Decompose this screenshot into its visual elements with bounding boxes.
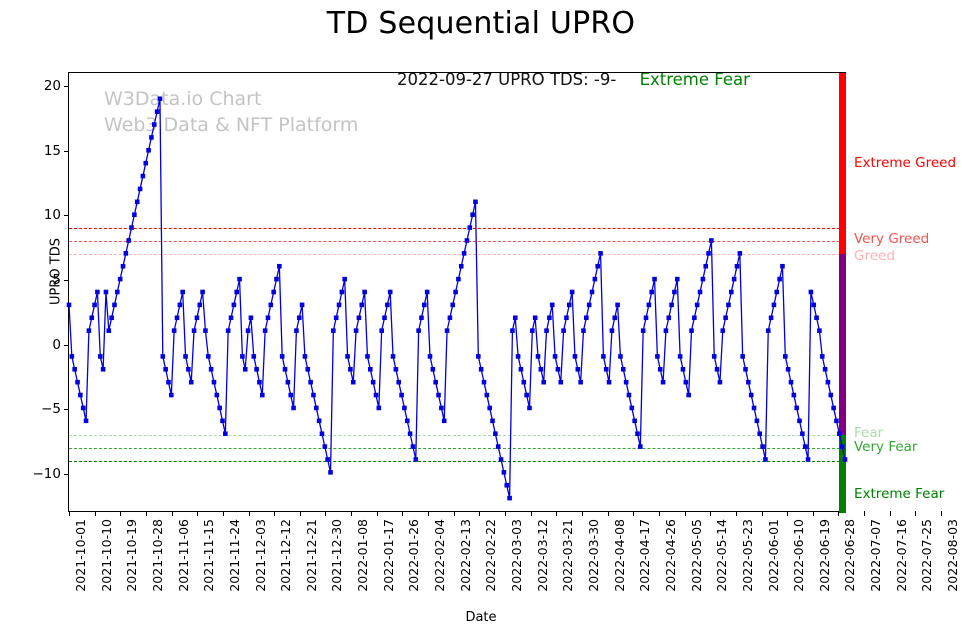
series-marker (388, 290, 393, 295)
series-marker (470, 212, 475, 217)
series-marker (496, 444, 501, 449)
x-tick-mark (582, 511, 583, 516)
series-marker (359, 303, 364, 308)
x-tick-label: 2021-12-12 (278, 519, 293, 592)
series-marker (831, 406, 836, 411)
series-marker (584, 315, 589, 320)
series-marker (601, 354, 606, 359)
x-tick-mark (249, 511, 250, 516)
series-marker (467, 225, 472, 230)
series-marker (107, 328, 112, 333)
x-tick-label: 2021-12-30 (329, 519, 344, 592)
series-marker (368, 367, 373, 372)
series-marker (777, 277, 782, 282)
series-marker (666, 315, 671, 320)
x-tick-label: 2022-06-28 (842, 519, 857, 592)
series-marker (419, 315, 424, 320)
x-tick-mark (197, 511, 198, 516)
series-marker (607, 380, 612, 385)
series-marker (573, 354, 578, 359)
series-marker (314, 406, 319, 411)
series-marker (362, 290, 367, 295)
series-marker (689, 328, 694, 333)
x-tick-mark (505, 511, 506, 516)
x-tick-label: 2021-10-10 (99, 519, 114, 592)
series-marker (104, 290, 109, 295)
x-tick-label: 2022-04-08 (612, 519, 627, 592)
series-marker (595, 264, 600, 269)
series-marker (311, 393, 316, 398)
x-tick-label: 2022-02-13 (458, 519, 473, 592)
series-marker (533, 315, 538, 320)
series-marker (516, 354, 521, 359)
series-marker (590, 290, 595, 295)
series-marker (206, 354, 211, 359)
series-marker (783, 354, 788, 359)
series-marker (541, 380, 546, 385)
series-marker (658, 367, 663, 372)
series-marker (377, 406, 382, 411)
series-marker (797, 419, 802, 424)
series-marker (786, 367, 791, 372)
series-marker (149, 135, 154, 140)
series-marker (135, 200, 140, 205)
series-marker (334, 315, 339, 320)
x-tick-label: 2021-11-15 (201, 519, 216, 592)
series-marker (141, 174, 146, 179)
series-marker (564, 315, 569, 320)
series-marker (752, 406, 757, 411)
series-marker (396, 380, 401, 385)
series-marker (487, 406, 492, 411)
series-marker (325, 457, 330, 462)
series-marker (618, 354, 623, 359)
series-marker (624, 380, 629, 385)
series-marker (374, 393, 379, 398)
series-marker (308, 380, 313, 385)
series-marker (823, 367, 828, 372)
series-marker (183, 354, 188, 359)
x-tick-mark (95, 511, 96, 516)
series-marker (746, 380, 751, 385)
series-marker (200, 290, 205, 295)
series-marker (792, 393, 797, 398)
series-marker (234, 290, 239, 295)
series-marker (621, 367, 626, 372)
series-marker (811, 303, 816, 308)
series-marker (723, 315, 728, 320)
series-marker (92, 303, 97, 308)
x-tick-label: 2022-01-08 (355, 519, 370, 592)
series-marker (158, 96, 163, 101)
y-tick-label: 10 (44, 207, 61, 223)
series-marker (246, 328, 251, 333)
x-tick-label: 2022-06-10 (791, 519, 806, 592)
series-marker (678, 354, 683, 359)
x-tick-label: 2022-05-23 (740, 519, 755, 592)
series-marker (578, 380, 583, 385)
series-marker (371, 380, 376, 385)
series-marker (169, 393, 174, 398)
x-tick-mark (402, 511, 403, 516)
plot-area: 20151050−5−10 (68, 72, 846, 512)
series-marker (379, 328, 384, 333)
series-marker (249, 315, 254, 320)
x-tick-label: 2022-06-19 (817, 519, 832, 592)
series-marker (81, 406, 86, 411)
series-marker (780, 264, 785, 269)
series-marker (209, 367, 214, 372)
series-marker (226, 328, 231, 333)
series-marker (800, 431, 805, 436)
series-line (69, 99, 845, 498)
series-marker (647, 303, 652, 308)
y-tick-label: 0 (52, 337, 61, 353)
series-marker (462, 251, 467, 256)
series-marker (536, 354, 541, 359)
series-marker (570, 290, 575, 295)
x-tick-label: 2021-12-03 (253, 519, 268, 592)
x-tick-mark (890, 511, 891, 516)
series-marker (331, 328, 336, 333)
series-marker (715, 367, 720, 372)
series-marker (217, 406, 222, 411)
series-marker (669, 303, 674, 308)
series-marker (547, 315, 552, 320)
series-marker (803, 444, 808, 449)
series-marker (718, 380, 723, 385)
series-marker (698, 290, 703, 295)
series-marker (712, 354, 717, 359)
x-tick-label: 2022-03-30 (586, 519, 601, 592)
series-marker (539, 367, 544, 372)
series-marker (817, 328, 822, 333)
x-tick-mark (223, 511, 224, 516)
series-marker (769, 315, 774, 320)
series-marker (303, 354, 308, 359)
x-tick-mark (300, 511, 301, 516)
series-marker (612, 315, 617, 320)
series-marker (843, 457, 848, 462)
series-marker (448, 315, 453, 320)
series-marker (340, 290, 345, 295)
series-marker (465, 238, 470, 243)
series-marker (294, 328, 299, 333)
series-marker (433, 380, 438, 385)
series-marker (189, 380, 194, 385)
x-tick-mark (710, 511, 711, 516)
x-tick-mark (428, 511, 429, 516)
series-marker (274, 277, 279, 282)
x-tick-label: 2022-04-17 (637, 519, 652, 592)
x-tick-mark (736, 511, 737, 516)
series-marker (220, 419, 225, 424)
series-marker (95, 290, 100, 295)
series-marker (115, 290, 120, 295)
series-marker (146, 148, 151, 153)
series-marker (556, 367, 561, 372)
series-marker (820, 354, 825, 359)
series-marker (254, 367, 259, 372)
series-marker (840, 444, 845, 449)
x-tick-mark (762, 511, 763, 516)
series-marker (70, 354, 75, 359)
series-marker (522, 380, 527, 385)
series-marker (610, 328, 615, 333)
series-marker (172, 328, 177, 333)
x-tick-label: 2021-12-21 (304, 519, 319, 592)
series-marker (757, 431, 762, 436)
tds-series (69, 73, 845, 511)
x-tick-mark (915, 511, 916, 516)
series-marker (587, 303, 592, 308)
series-marker (703, 264, 708, 269)
x-tick-label: 2022-05-05 (689, 519, 704, 592)
series-marker (354, 328, 359, 333)
series-marker (479, 367, 484, 372)
series-marker (243, 367, 248, 372)
series-marker (271, 290, 276, 295)
series-marker (67, 303, 72, 308)
y-tick-label: 20 (44, 78, 61, 94)
x-tick-mark (479, 511, 480, 516)
x-tick-label: 2022-02-04 (432, 519, 447, 592)
x-tick-label: 2021-10-01 (73, 519, 88, 592)
series-marker (504, 483, 509, 488)
series-marker (328, 470, 333, 475)
series-marker (283, 367, 288, 372)
series-marker (269, 303, 274, 308)
x-tick-label: 2022-03-21 (560, 519, 575, 592)
series-marker (72, 367, 77, 372)
series-marker (544, 328, 549, 333)
series-marker (681, 367, 686, 372)
series-marker (826, 380, 831, 385)
series-marker (124, 251, 129, 256)
series-marker (604, 367, 609, 372)
series-marker (794, 406, 799, 411)
x-tick-label: 2022-03-03 (509, 519, 524, 592)
series-marker (502, 470, 507, 475)
series-marker (411, 444, 416, 449)
series-marker (649, 290, 654, 295)
series-marker (661, 380, 666, 385)
x-tick-label: 2022-08-03 (945, 519, 960, 592)
series-marker (453, 290, 458, 295)
series-marker (493, 431, 498, 436)
series-marker (121, 264, 126, 269)
series-marker (175, 315, 180, 320)
x-tick-mark (120, 511, 121, 516)
series-marker (178, 303, 183, 308)
threshold-label-very-fear: Very Fear (854, 439, 917, 455)
series-marker (260, 393, 265, 398)
series-marker (385, 303, 390, 308)
series-marker (277, 264, 282, 269)
series-marker (337, 303, 342, 308)
series-marker (749, 393, 754, 398)
series-marker (138, 187, 143, 192)
x-tick-mark (941, 511, 942, 516)
series-marker (524, 393, 529, 398)
series-marker (163, 367, 168, 372)
x-tick-mark (685, 511, 686, 516)
series-marker (186, 367, 191, 372)
series-marker (615, 303, 620, 308)
series-marker (692, 315, 697, 320)
series-marker (735, 264, 740, 269)
series-marker (266, 315, 271, 320)
series-marker (476, 354, 481, 359)
series-marker (399, 393, 404, 398)
x-tick-mark (377, 511, 378, 516)
series-marker (436, 393, 441, 398)
series-marker (75, 380, 80, 385)
series-marker (519, 367, 524, 372)
series-marker (109, 315, 114, 320)
x-tick-label: 2022-02-22 (483, 519, 498, 592)
series-marker (561, 328, 566, 333)
series-marker (499, 457, 504, 462)
series-marker (553, 354, 558, 359)
series-marker (635, 431, 640, 436)
series-marker (323, 444, 328, 449)
x-tick-mark (864, 511, 865, 516)
series-marker (87, 328, 92, 333)
series-marker (763, 457, 768, 462)
series-marker (513, 315, 518, 320)
x-tick-label: 2022-07-07 (868, 519, 883, 592)
x-tick-label: 2022-05-14 (714, 519, 729, 592)
series-marker (391, 354, 396, 359)
series-marker (405, 419, 410, 424)
series-marker (394, 367, 399, 372)
chart-root: TD Sequential UPRO 2022-09-27 UPRO TDS: … (0, 0, 962, 633)
x-tick-label: 2021-10-19 (124, 519, 139, 592)
y-tick-label: −5 (41, 401, 61, 417)
series-marker (576, 367, 581, 372)
series-marker (774, 290, 779, 295)
series-marker (706, 251, 711, 256)
series-marker (760, 444, 765, 449)
series-marker (152, 122, 157, 127)
series-marker (232, 303, 237, 308)
series-marker (473, 200, 478, 205)
series-marker (180, 290, 185, 295)
x-tick-label: 2021-11-24 (227, 519, 242, 592)
x-tick-mark (531, 511, 532, 516)
series-marker (237, 277, 242, 282)
series-marker (772, 303, 777, 308)
series-marker (251, 354, 256, 359)
y-tick-label: 5 (52, 272, 61, 288)
series-marker (112, 303, 117, 308)
series-marker (192, 328, 197, 333)
y-tick-label: 15 (44, 143, 61, 159)
series-marker (240, 354, 245, 359)
series-marker (806, 457, 811, 462)
x-tick-label: 2022-04-26 (663, 519, 678, 592)
series-marker (641, 328, 646, 333)
series-marker (132, 212, 137, 217)
series-marker (129, 225, 134, 230)
series-marker (442, 419, 447, 424)
series-marker (456, 277, 461, 282)
series-marker (428, 354, 433, 359)
series-marker (118, 277, 123, 282)
series-marker (126, 238, 131, 243)
series-marker (161, 354, 166, 359)
series-marker (567, 303, 572, 308)
series-marker (300, 303, 305, 308)
x-tick-mark (146, 511, 147, 516)
series-marker (297, 315, 302, 320)
series-marker (263, 328, 268, 333)
series-marker (485, 393, 490, 398)
series-marker (701, 277, 706, 282)
series-marker (638, 444, 643, 449)
series-marker (459, 264, 464, 269)
series-marker (527, 406, 532, 411)
series-marker (450, 303, 455, 308)
series-marker (632, 419, 637, 424)
series-marker (558, 380, 563, 385)
x-tick-label: 2022-03-12 (535, 519, 550, 592)
x-tick-mark (659, 511, 660, 516)
x-tick-label: 2022-01-17 (381, 519, 396, 592)
x-axis-label: Date (0, 610, 962, 625)
series-marker (408, 431, 413, 436)
series-marker (203, 328, 208, 333)
series-marker (143, 161, 148, 166)
series-marker (834, 419, 839, 424)
x-tick-mark (274, 511, 275, 516)
series-marker (598, 251, 603, 256)
series-marker (814, 315, 819, 320)
series-marker (291, 406, 296, 411)
series-marker (732, 277, 737, 282)
x-tick-mark (633, 511, 634, 516)
series-marker (257, 380, 262, 385)
threshold-label-extreme-fear: Extreme Fear (854, 486, 944, 502)
series-marker (357, 315, 362, 320)
series-marker (510, 328, 515, 333)
x-tick-mark (556, 511, 557, 516)
series-marker (720, 328, 725, 333)
chart-title: TD Sequential UPRO (0, 6, 962, 41)
series-marker (627, 393, 632, 398)
series-marker (101, 367, 106, 372)
series-marker (286, 380, 291, 385)
series-marker (729, 290, 734, 295)
series-marker (84, 419, 89, 424)
series-marker (490, 419, 495, 424)
series-marker (89, 315, 94, 320)
series-marker (709, 238, 714, 243)
series-marker (530, 328, 535, 333)
series-marker (828, 393, 833, 398)
series-marker (482, 380, 487, 385)
series-marker (789, 380, 794, 385)
series-marker (425, 290, 430, 295)
series-marker (655, 354, 660, 359)
series-marker (195, 315, 200, 320)
series-marker (809, 290, 814, 295)
series-marker (755, 419, 760, 424)
threshold-label-greed: Greed (854, 248, 895, 264)
series-marker (416, 328, 421, 333)
series-marker (507, 496, 512, 501)
